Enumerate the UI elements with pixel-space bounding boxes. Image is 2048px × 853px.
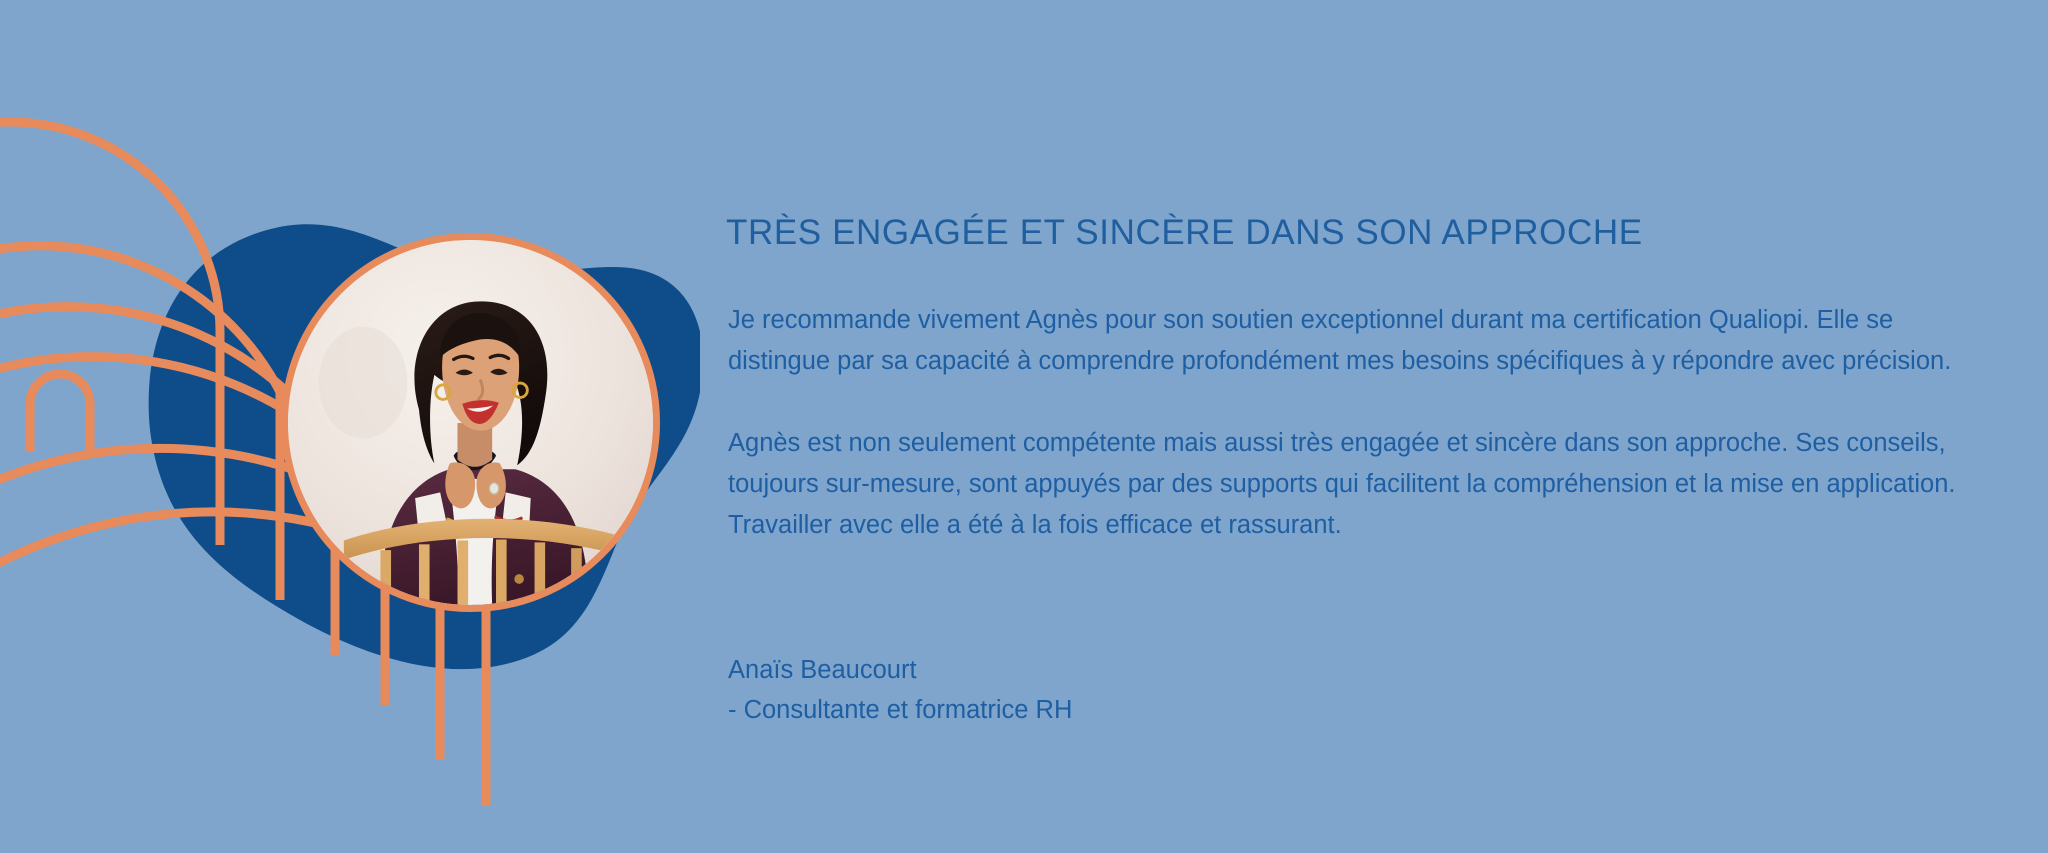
author-name: Anaïs Beaucourt: [728, 650, 1072, 690]
testimonial-content: TRÈS ENGAGÉE ET SINCÈRE DANS SON APPROCH…: [726, 0, 1976, 853]
portrait-avatar: [281, 233, 660, 612]
testimonial-heading: TRÈS ENGAGÉE ET SINCÈRE DANS SON APPROCH…: [726, 214, 1643, 253]
testimonial-body: Je recommande vivement Agnès pour son so…: [728, 300, 1968, 546]
testimonial-paragraph-1: Je recommande vivement Agnès pour son so…: [728, 300, 1968, 382]
testimonial-signature: Anaïs Beaucourt - Consultante et formatr…: [728, 650, 1072, 730]
testimonial-paragraph-2: Agnès est non seulement compétente mais …: [728, 423, 1968, 546]
author-role: - Consultante et formatrice RH: [728, 690, 1072, 730]
testimonial-banner: TRÈS ENGAGÉE ET SINCÈRE DANS SON APPROCH…: [0, 0, 2048, 853]
portrait-illustration: [288, 240, 653, 605]
